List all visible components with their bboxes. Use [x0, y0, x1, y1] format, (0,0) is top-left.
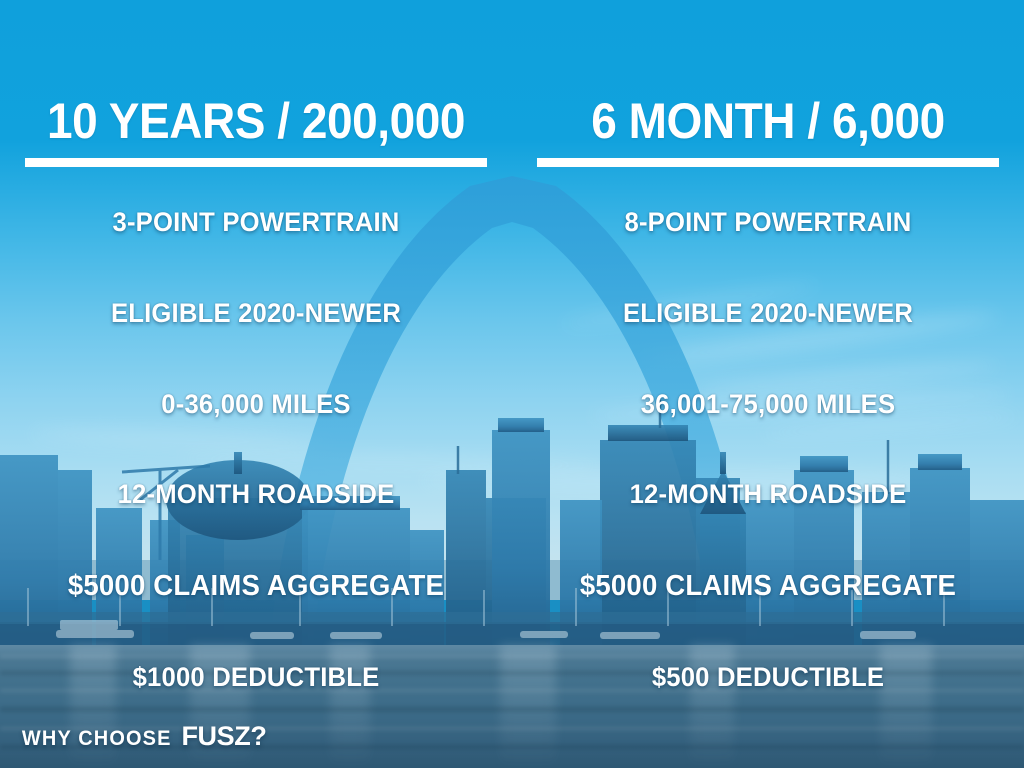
slide-canvas: 10 YEARS / 200,000 3-POINT POWERTRAIN EL… — [0, 0, 1024, 768]
plan-item: $1000 DEDUCTIBLE — [13, 664, 499, 691]
plan-items-right: 8-POINT POWERTRAIN ELIGIBLE 2020-NEWER 3… — [512, 209, 1024, 691]
plan-heading-left: 10 YEARS / 200,000 — [20, 0, 491, 146]
plan-items-left: 3-POINT POWERTRAIN ELIGIBLE 2020-NEWER 0… — [0, 209, 512, 691]
plan-item: 12-MONTH ROADSIDE — [13, 481, 499, 508]
plan-column-10-year: 10 YEARS / 200,000 3-POINT POWERTRAIN EL… — [0, 0, 512, 691]
plan-item: 12-MONTH ROADSIDE — [525, 481, 1011, 508]
plan-item: 3-POINT POWERTRAIN — [13, 209, 499, 236]
plan-columns: 10 YEARS / 200,000 3-POINT POWERTRAIN EL… — [0, 0, 1024, 691]
plan-item: 36,001-75,000 MILES — [525, 391, 1011, 418]
plan-item: 0-36,000 MILES — [13, 391, 499, 418]
heading-underline-right — [537, 158, 999, 167]
plan-item: 8-POINT POWERTRAIN — [525, 209, 1011, 236]
plan-item: $5000 CLAIMS AGGREGATE — [525, 572, 1011, 601]
plan-item: $500 DEDUCTIBLE — [525, 664, 1011, 691]
footer-prefix-text: WHY CHOOSE — [22, 727, 172, 751]
footer-branding: WHY CHOOSEFUSZ? — [18, 721, 266, 752]
plan-column-6-month: 6 MONTH / 6,000 8-POINT POWERTRAIN ELIGI… — [512, 0, 1024, 691]
plan-item: ELIGIBLE 2020-NEWER — [13, 300, 499, 327]
slide-content: 10 YEARS / 200,000 3-POINT POWERTRAIN EL… — [0, 0, 1024, 768]
plan-heading-right: 6 MONTH / 6,000 — [532, 0, 1003, 146]
fusz-logo-text: FUSZ? — [181, 721, 266, 752]
plan-item: $5000 CLAIMS AGGREGATE — [13, 572, 499, 601]
plan-item: ELIGIBLE 2020-NEWER — [525, 300, 1011, 327]
heading-underline-left — [25, 158, 487, 167]
